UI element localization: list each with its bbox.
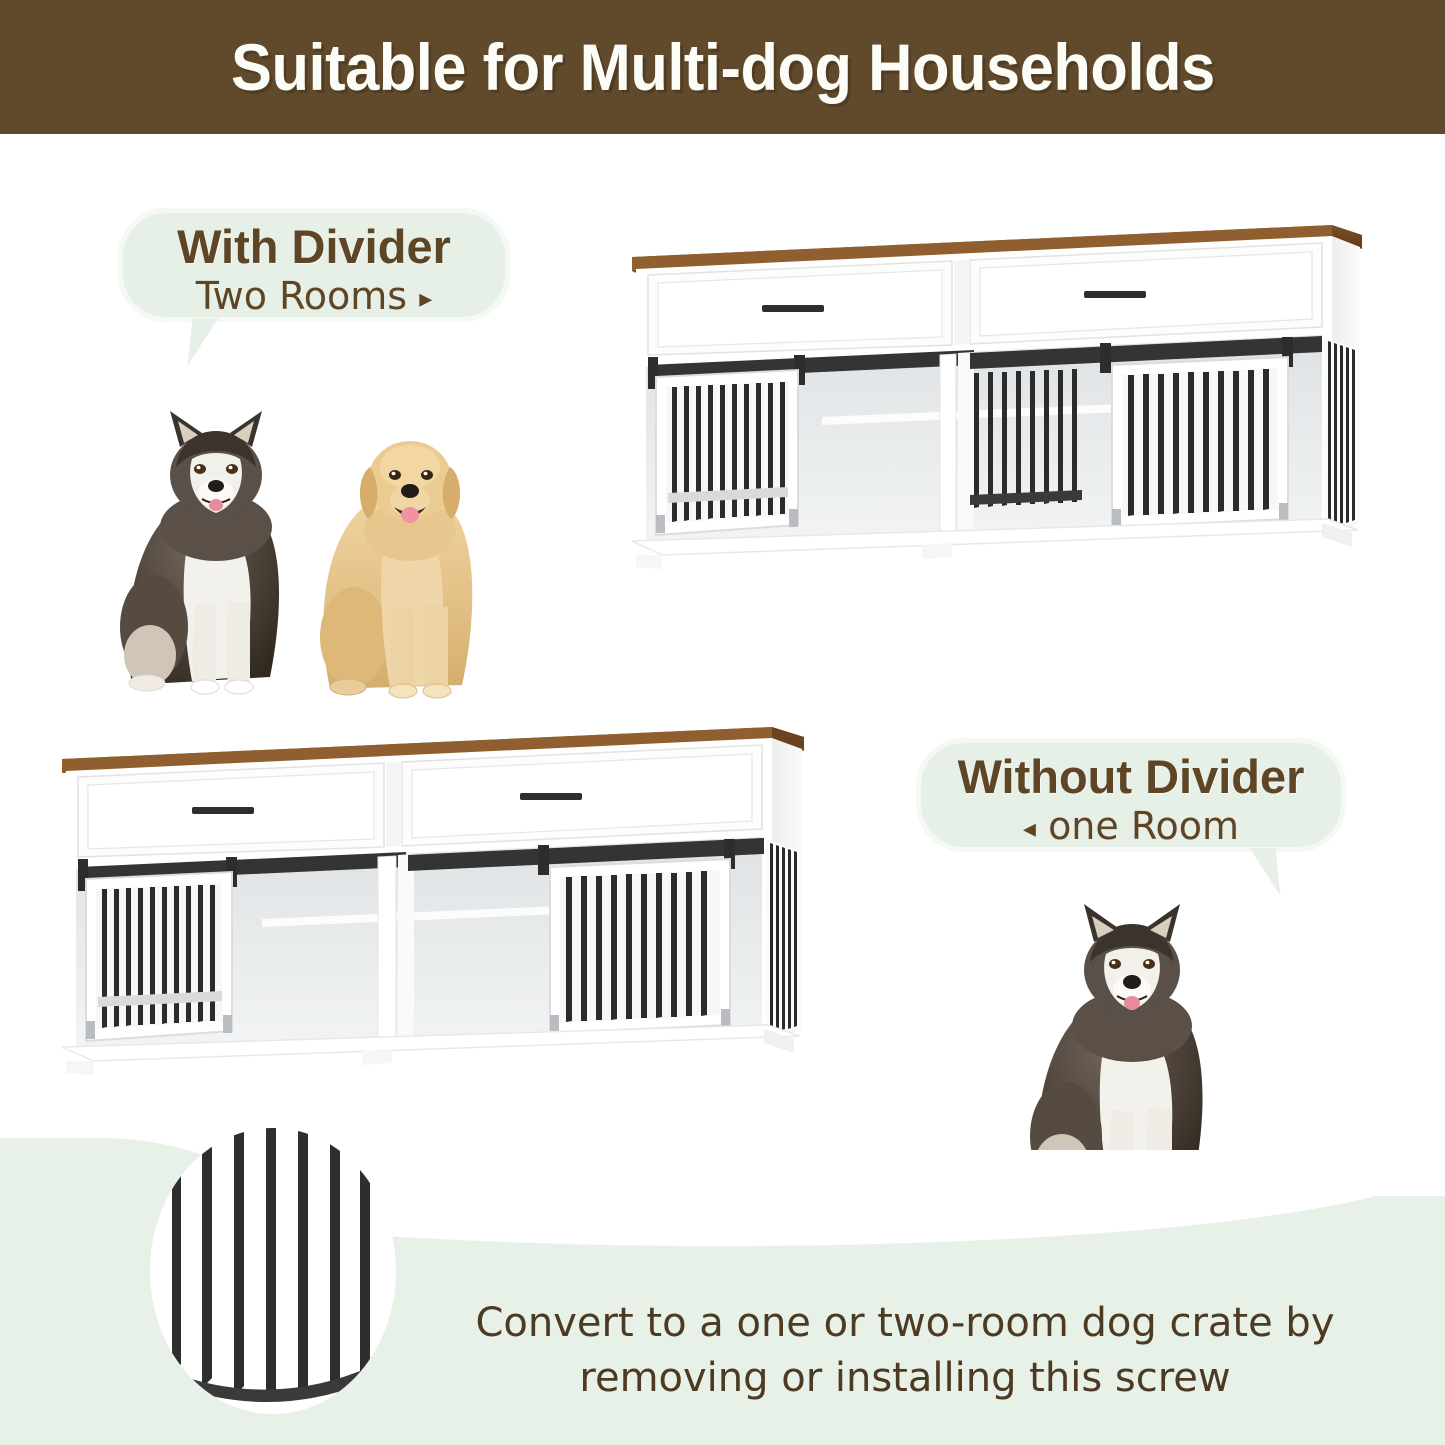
crate-without-divider-svg <box>52 705 812 1155</box>
center-stile-no-divider <box>378 854 414 1045</box>
crate-with-divider-svg <box>622 205 1362 645</box>
callout-without-divider: Without Divider ◂ one Room <box>916 738 1346 852</box>
drawer-right[interactable] <box>970 243 1322 344</box>
arrow-left-icon: ◂ <box>1023 814 1036 844</box>
drawer-divider-stile <box>954 260 970 345</box>
arrow-right-icon: ▸ <box>419 284 432 314</box>
crate-foot-left <box>636 555 662 569</box>
sliding-door-left-2[interactable] <box>86 872 232 1041</box>
page-title: Suitable for Multi-dog Households <box>231 29 1215 105</box>
callout-without-divider-subtitle: ◂ one Room <box>950 805 1312 849</box>
caption-line-2: removing or installing this screw <box>440 1351 1370 1406</box>
callout-with-divider-subtitle: Two Rooms ▸ <box>152 275 476 319</box>
product-image-crate-with-divider <box>622 205 1362 645</box>
door-hinge-left2-bottom <box>86 1021 95 1039</box>
header-banner: Suitable for Multi-dog Households <box>0 0 1445 134</box>
dog-pair-svg <box>92 355 522 700</box>
callout-without-divider-subtitle-text: one Room <box>1048 804 1239 848</box>
caption-line-1: Convert to a one or two-room dog crate b… <box>440 1296 1370 1351</box>
callout-tail-with-divider <box>187 318 244 366</box>
drawer-divider-stile-2 <box>386 762 402 847</box>
callout-tail-without-divider <box>1223 848 1280 896</box>
door-hinge-left-bottom <box>656 515 665 533</box>
callout-with-divider-subtitle-text: Two Rooms <box>196 274 407 318</box>
door-hinge-right2-bottom2 <box>721 1009 730 1027</box>
sliding-door-right-2[interactable] <box>550 859 730 1033</box>
divider-gate-bars <box>970 367 1092 513</box>
side-panel-bars-right <box>1324 337 1358 533</box>
drawer-right-2[interactable] <box>402 745 762 846</box>
sliding-door-right[interactable] <box>1112 357 1288 527</box>
bottom-caption: Convert to a one or two-room dog crate b… <box>440 1296 1370 1406</box>
dog-malamute <box>120 411 279 694</box>
detail-bars-svg <box>150 1128 396 1414</box>
side-panel-bars-right-2 <box>766 839 800 1039</box>
dog-pair-illustration <box>92 355 522 700</box>
crate-foot-left-2 <box>66 1061 94 1075</box>
door-hinge-right-bottom <box>1112 509 1121 527</box>
drawer-left-2[interactable] <box>78 763 384 857</box>
door-hinge-left-bottom2 <box>789 509 798 527</box>
sliding-door-left[interactable] <box>656 370 798 535</box>
door-hinge-right-bottom2 <box>1279 503 1288 521</box>
callout-with-divider-title: With Divider <box>152 222 476 271</box>
detail-zoom-circle <box>150 1128 396 1414</box>
drawer-handle-right[interactable] <box>1084 291 1146 298</box>
crate-foot-mid <box>922 543 952 559</box>
detail-bars-group <box>172 1128 370 1400</box>
crate-foot-mid-2 <box>362 1049 392 1065</box>
callout-with-divider: With Divider Two Rooms ▸ <box>118 208 510 322</box>
drawer-left[interactable] <box>648 261 952 355</box>
dog-labrador <box>320 441 472 698</box>
door-hinge-right2-bottom <box>550 1015 559 1033</box>
callout-without-divider-title: Without Divider <box>950 752 1312 801</box>
product-image-crate-without-divider <box>52 705 812 1155</box>
drawer-handle-left-2[interactable] <box>192 807 254 814</box>
door-hinge-left2-bottom2 <box>223 1015 232 1033</box>
drawer-handle-right-2[interactable] <box>520 793 582 800</box>
drawer-handle-left[interactable] <box>762 305 824 312</box>
